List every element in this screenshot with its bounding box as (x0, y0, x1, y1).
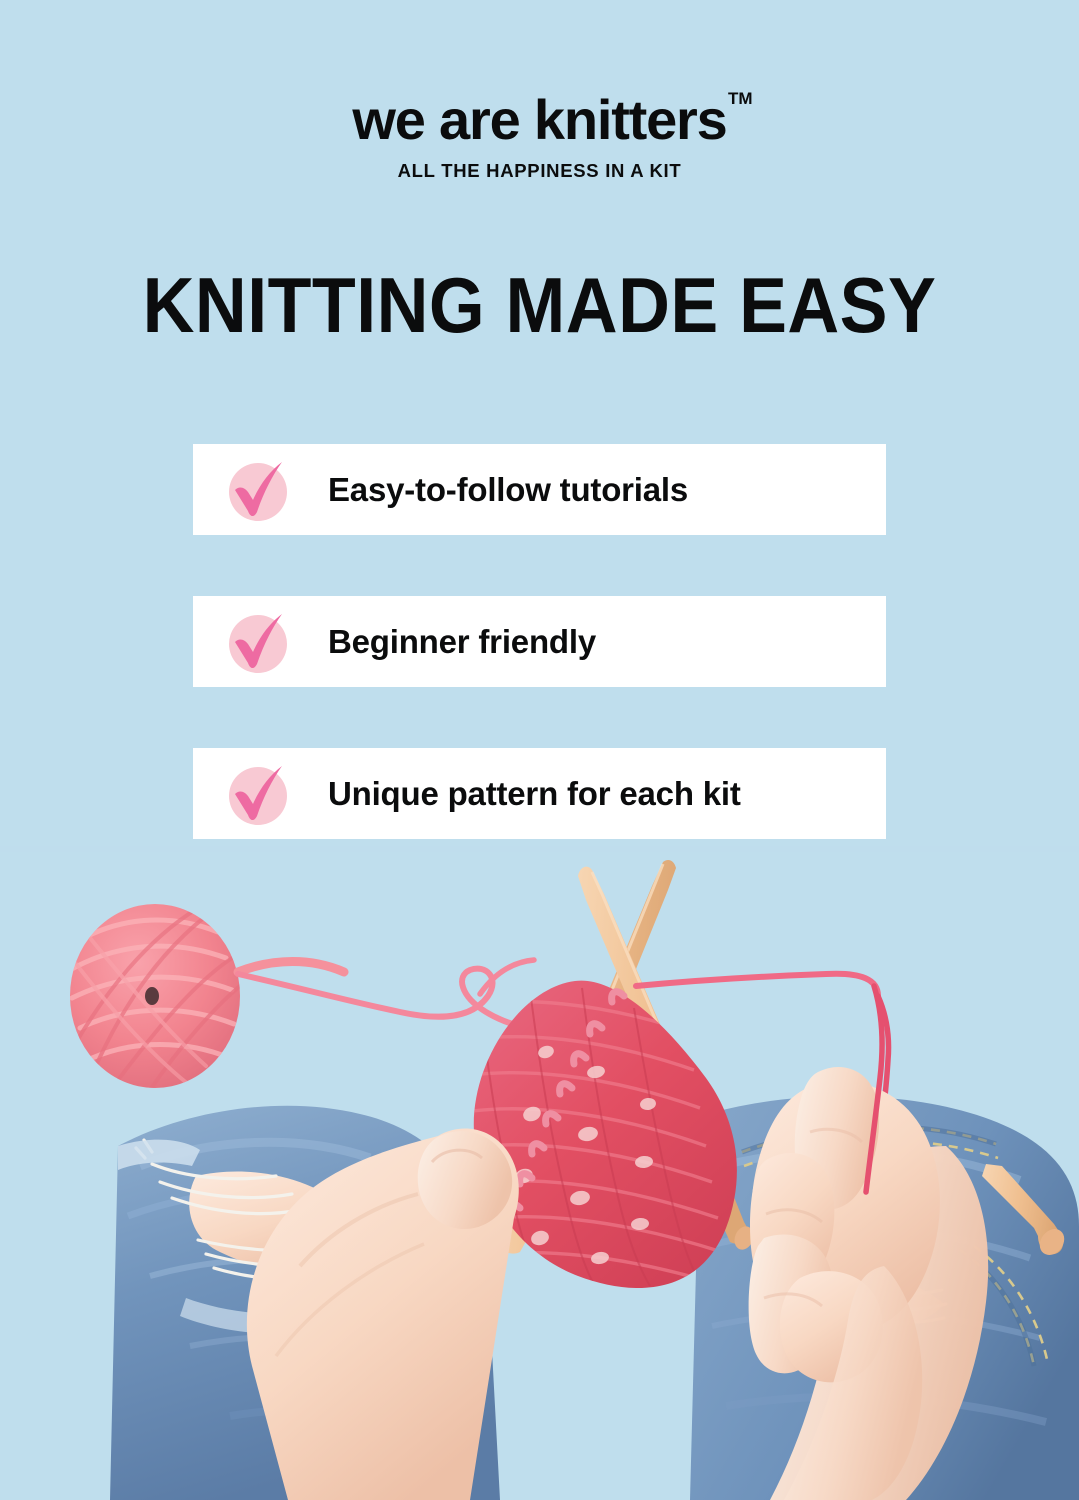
hero-photo-illustration (0, 846, 1079, 1500)
page-title: KNITTING MADE EASY (43, 266, 1036, 344)
feature-card: Beginner friendly (193, 596, 886, 687)
check-icon-mark (222, 758, 294, 830)
feature-card: Unique pattern for each kit (193, 748, 886, 839)
feature-card: Easy-to-follow tutorials (193, 444, 886, 535)
trademark-icon: TM (728, 90, 753, 107)
feature-label: Beginner friendly (328, 623, 596, 661)
feature-label: Easy-to-follow tutorials (328, 471, 688, 509)
yarn-ball-center-hole (145, 987, 159, 1005)
feature-label: Unique pattern for each kit (328, 775, 741, 813)
hero-photo (0, 846, 1079, 1500)
check-icon (222, 606, 294, 678)
check-icon (222, 758, 294, 830)
brand-tagline: ALL THE HAPPINESS IN A KIT (0, 160, 1079, 182)
brand-wordmark-text: we are knitters (352, 88, 726, 151)
brand-wordmark: we are knitters TM (352, 92, 726, 148)
check-icon-mark (222, 606, 294, 678)
feature-list: Easy-to-follow tutorials Beginner friend… (193, 444, 886, 839)
poster: we are knitters TM ALL THE HAPPINESS IN … (0, 0, 1079, 1500)
brand-logo: we are knitters TM ALL THE HAPPINESS IN … (0, 92, 1079, 182)
check-icon (222, 454, 294, 526)
check-icon-mark (222, 454, 294, 526)
